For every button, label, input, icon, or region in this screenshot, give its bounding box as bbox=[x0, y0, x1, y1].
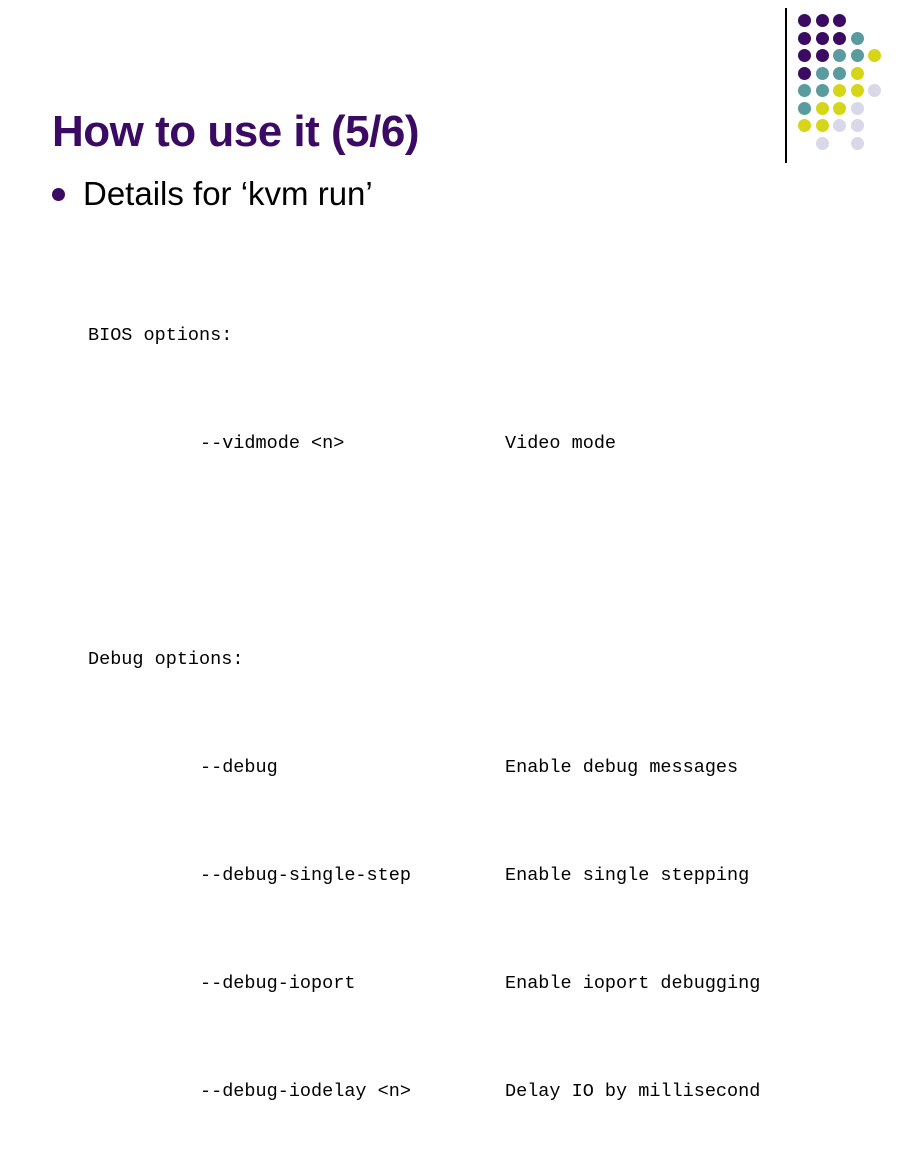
logo-dot-grid bbox=[798, 14, 898, 159]
logo-dot-purple bbox=[816, 14, 829, 27]
logo-dot-teal bbox=[816, 67, 829, 80]
logo-dot-yellow bbox=[816, 119, 829, 132]
option-description: Video mode bbox=[505, 433, 616, 454]
option-flag: --debug-single-step bbox=[200, 862, 505, 889]
bios-option-row: --vidmode <n>Video mode bbox=[88, 430, 760, 457]
logo-dot-yellow bbox=[833, 84, 846, 97]
logo-dot-yellow bbox=[851, 67, 864, 80]
debug-options-heading: Debug options: bbox=[88, 646, 760, 673]
bullet-item-label: Details for ‘kvm run’ bbox=[83, 175, 373, 213]
dot-grid-logo bbox=[770, 0, 900, 175]
logo-dot-teal bbox=[851, 32, 864, 45]
logo-dot-lightgray bbox=[868, 84, 881, 97]
logo-dot-teal bbox=[816, 84, 829, 97]
logo-dot-purple bbox=[833, 14, 846, 27]
logo-dot-teal bbox=[798, 84, 811, 97]
option-flag: --vidmode <n> bbox=[200, 430, 505, 457]
bios-options-heading: BIOS options: bbox=[88, 322, 760, 349]
option-flag: --debug-ioport bbox=[200, 970, 505, 997]
debug-option-row: --debug-single-stepEnable single steppin… bbox=[88, 862, 760, 889]
bullet-item: Details for ‘kvm run’ bbox=[52, 175, 373, 213]
logo-dot-yellow bbox=[798, 119, 811, 132]
logo-dot-teal bbox=[798, 102, 811, 115]
option-flag: --debug-iodelay <n> bbox=[200, 1078, 505, 1105]
bullet-dot-icon bbox=[52, 188, 65, 201]
blank-line bbox=[88, 538, 760, 565]
logo-dot-teal bbox=[833, 67, 846, 80]
logo-dot-purple bbox=[798, 14, 811, 27]
debug-option-row: --debug-iodelay <n>Delay IO by milliseco… bbox=[88, 1078, 760, 1105]
logo-dot-lightgray bbox=[851, 119, 864, 132]
option-description: Enable single stepping bbox=[505, 865, 749, 886]
logo-dot-lightgray bbox=[816, 137, 829, 150]
logo-vertical-rule bbox=[785, 8, 787, 163]
logo-dot-purple bbox=[833, 32, 846, 45]
options-code-block: BIOS options: --vidmode <n>Video mode De… bbox=[88, 241, 760, 1159]
logo-dot-purple bbox=[816, 49, 829, 62]
logo-dot-teal bbox=[851, 49, 864, 62]
logo-dot-lightgray bbox=[851, 102, 864, 115]
logo-dot-purple bbox=[816, 32, 829, 45]
option-flag: --debug bbox=[200, 754, 505, 781]
logo-dot-teal bbox=[833, 49, 846, 62]
logo-dot-purple bbox=[798, 32, 811, 45]
option-description: Enable debug messages bbox=[505, 757, 738, 778]
debug-option-row: --debugEnable debug messages bbox=[88, 754, 760, 781]
option-description: Enable ioport debugging bbox=[505, 973, 760, 994]
option-description: Delay IO by millisecond bbox=[505, 1081, 760, 1102]
debug-option-row: --debug-ioportEnable ioport debugging bbox=[88, 970, 760, 997]
logo-dot-purple bbox=[798, 49, 811, 62]
logo-dot-yellow bbox=[868, 49, 881, 62]
logo-dot-yellow bbox=[833, 102, 846, 115]
logo-dot-lightgray bbox=[833, 119, 846, 132]
logo-dot-yellow bbox=[851, 84, 864, 97]
logo-dot-lightgray bbox=[851, 137, 864, 150]
logo-dot-purple bbox=[798, 67, 811, 80]
page-title: How to use it (5/6) bbox=[52, 107, 419, 157]
logo-dot-yellow bbox=[816, 102, 829, 115]
